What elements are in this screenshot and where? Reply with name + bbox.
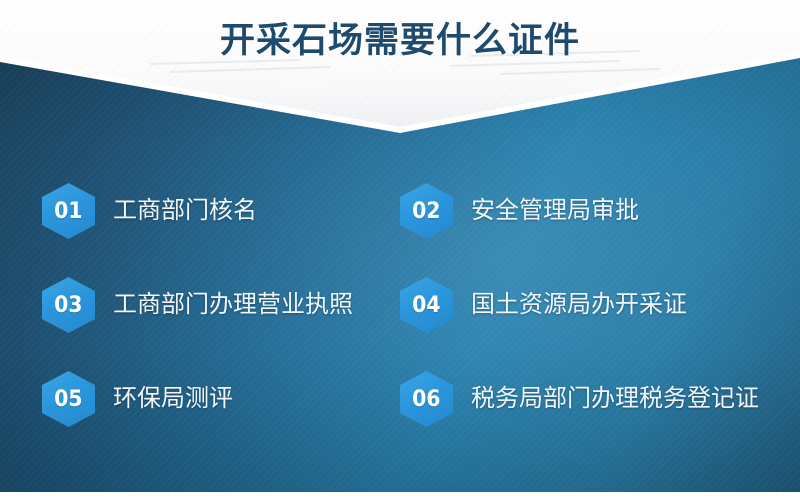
step-number: 06 <box>412 387 440 412</box>
hexagon-badge: 01 <box>42 183 95 239</box>
step-number: 02 <box>412 199 440 224</box>
page-title: 开采石场需要什么证件 <box>0 20 800 62</box>
list-item[interactable]: 02 安全管理局审批 <box>400 183 639 239</box>
step-label: 税务局部门办理税务登记证 <box>471 384 759 414</box>
step-label: 国土资源局办开采证 <box>471 290 687 320</box>
step-label: 工商部门核名 <box>113 196 257 226</box>
hexagon-badge: 03 <box>42 277 95 333</box>
list-item[interactable]: 05 环保局测评 <box>42 371 233 427</box>
step-label: 环保局测评 <box>113 384 233 414</box>
hexagon-badge: 04 <box>400 277 453 333</box>
step-number: 03 <box>54 293 82 318</box>
list-item[interactable]: 06 税务局部门办理税务登记证 <box>400 371 759 427</box>
hexagon-badge: 05 <box>42 371 95 427</box>
hexagon-badge: 06 <box>400 371 453 427</box>
list-item[interactable]: 04 国土资源局办开采证 <box>400 277 687 333</box>
list-item[interactable]: 03 工商部门办理营业执照 <box>42 277 353 333</box>
step-number: 05 <box>54 387 82 412</box>
step-label: 工商部门办理营业执照 <box>113 290 353 320</box>
bottom-strip <box>0 492 800 500</box>
step-number: 04 <box>412 293 440 318</box>
list-item[interactable]: 01 工商部门核名 <box>42 183 257 239</box>
step-label: 安全管理局审批 <box>471 196 639 226</box>
steps-list: 01 工商部门核名 02 安全管理局审批 03 工商部门办理营业执照 04 国土… <box>0 165 800 465</box>
step-number: 01 <box>54 199 82 224</box>
infographic-poster: 开采石场需要什么证件 01 工商部门核名 02 安全管理局审批 03 工商部门办… <box>0 0 800 500</box>
hexagon-badge: 02 <box>400 183 453 239</box>
